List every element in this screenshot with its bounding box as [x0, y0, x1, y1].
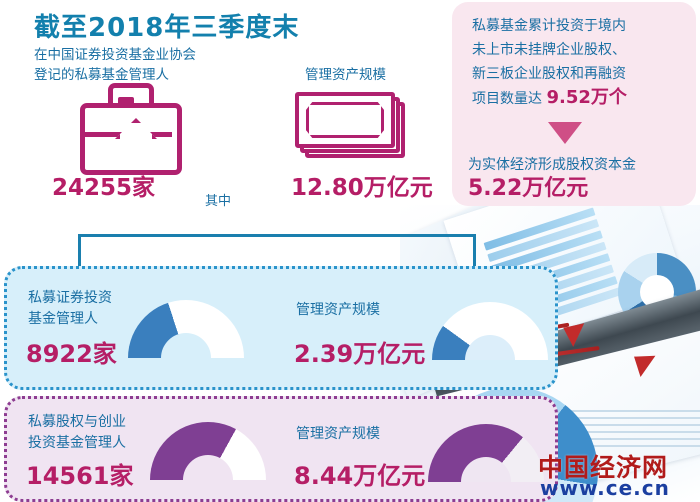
- card-securities-value: 8922家: [26, 334, 117, 369]
- card-securities-caption-line1: 私募证券投资: [28, 290, 112, 306]
- card-equity-caption-line2: 投资基金管理人: [28, 435, 126, 451]
- card-equity-aum-value: 8.44万亿元: [294, 456, 425, 491]
- card-equity-caption: 私募股权与创业 投资基金管理人: [28, 412, 126, 454]
- card-securities-caption: 私募证券投资 基金管理人: [28, 288, 112, 330]
- briefcase-icon: [80, 103, 182, 175]
- page-title: 截至2018年三季度末: [34, 7, 299, 44]
- card-equity-value: 14561家: [26, 456, 134, 491]
- panel-line-2: 未上市未挂牌企业股权、: [472, 42, 626, 58]
- watermark-url: www.ce.cn: [540, 476, 670, 500]
- panel-line-1: 私募基金累计投资于境内: [472, 18, 626, 34]
- watermark: 中国经济网 www.ce.cn: [538, 448, 698, 500]
- card-securities-aum-value: 2.39万亿元: [294, 334, 425, 369]
- gauge-equity-aum: [428, 424, 544, 482]
- panel-line-3: 新三板企业股权和再融资: [472, 66, 626, 82]
- card-securities-caption-line2: 基金管理人: [28, 311, 98, 327]
- panel-line-4-prefix: 项目数量达: [472, 91, 542, 107]
- managers-label-line1: 在中国证券投资基金业协会: [34, 47, 196, 63]
- managers-label: 在中国证券投资基金业协会 登记的私募基金管理人: [34, 45, 196, 85]
- gauge-equity-managers: [150, 422, 266, 480]
- managers-total-value: 24255家: [52, 168, 155, 202]
- panel-footer-label: 为实体经济形成股权资本金: [468, 157, 636, 173]
- panel-project-count-value: 9.52万个: [546, 87, 626, 108]
- banknotes-icon: [295, 92, 395, 148]
- aum-label: 管理资产规模: [305, 65, 386, 85]
- managers-label-line2: 登记的私募基金管理人: [34, 67, 169, 83]
- card-securities-aum-label: 管理资产规模: [296, 300, 380, 321]
- gauge-securities-managers: [128, 300, 244, 358]
- infographic-canvas: 私募基金累计投资于境内 未上市未挂牌企业股权、 新三板企业股权和再融资 项目数量…: [0, 0, 700, 502]
- down-triangle-icon: [548, 122, 582, 144]
- connector-label: 其中: [205, 190, 231, 209]
- panel-footer-value: 5.22万亿元: [468, 178, 694, 200]
- panel-footer: 为实体经济形成股权资本金 5.22万亿元: [468, 154, 694, 200]
- aum-total-value: 12.80万亿元: [291, 168, 433, 202]
- card-equity-caption-line1: 私募股权与创业: [28, 414, 126, 430]
- panel-summary-text: 私募基金累计投资于境内 未上市未挂牌企业股权、 新三板企业股权和再融资 项目数量…: [472, 14, 682, 111]
- gauge-securities-aum: [432, 302, 548, 360]
- card-equity-aum-label: 管理资产规模: [296, 424, 380, 445]
